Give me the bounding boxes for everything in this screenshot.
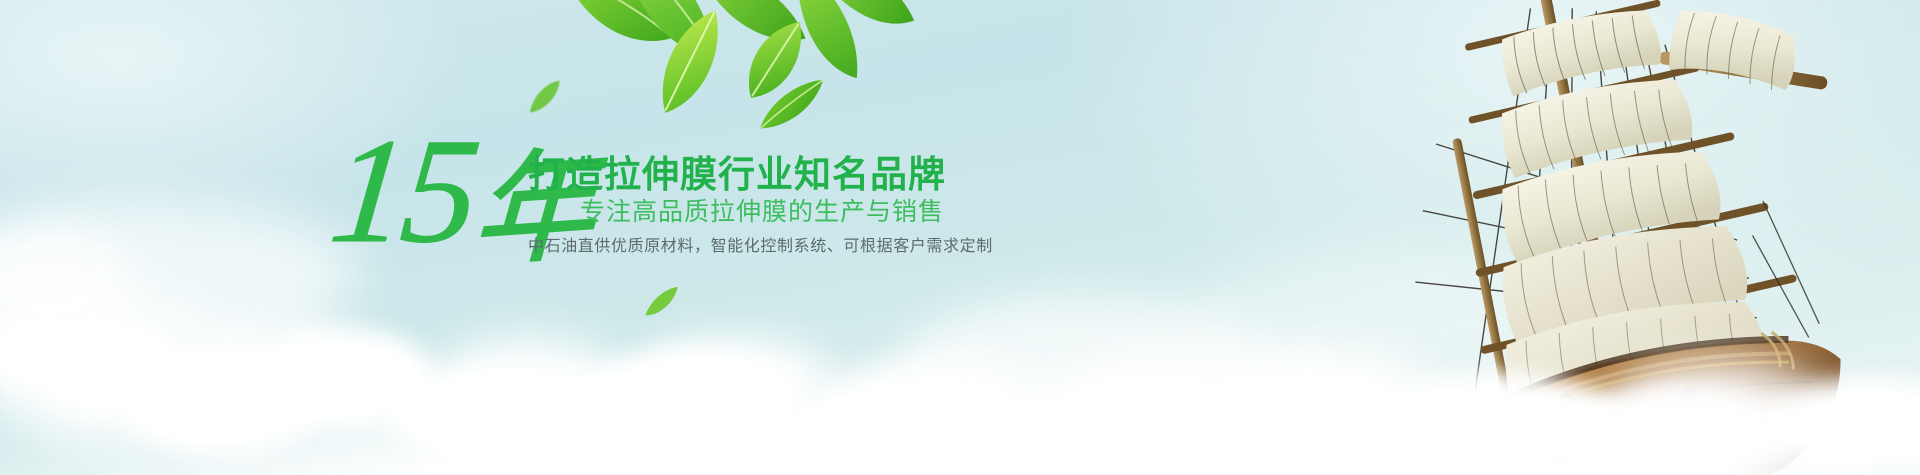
hero-banner: 15年 打造拉伸膜行业知名品牌 专注高品质拉伸膜的生产与销售 中石油直供优质原材… (0, 0, 1920, 475)
banner-copy: 15年 打造拉伸膜行业知名品牌 专注高品质拉伸膜的生产与销售 中石油直供优质原材… (332, 112, 892, 292)
sky-wisp (0, 200, 360, 350)
cloud-puff (252, 327, 438, 431)
sailing-ship (1170, 0, 1920, 475)
cloud-puff (640, 335, 830, 419)
cloud-puff (118, 345, 328, 457)
subheadline: 专注高品质拉伸膜的生产与销售 (580, 192, 944, 228)
years-number: 15 (324, 108, 483, 274)
cloud-puff (386, 363, 636, 467)
cloud-puff (790, 375, 1040, 473)
cloud-puff (852, 357, 1032, 435)
headline: 打造拉伸膜行业知名品牌 (528, 144, 946, 198)
tagline: 中石油直供优质原材料，智能化控制系统、可根据客户需求定制 (528, 232, 993, 256)
cloud-puff (576, 347, 806, 455)
cloud-puff (432, 335, 622, 427)
